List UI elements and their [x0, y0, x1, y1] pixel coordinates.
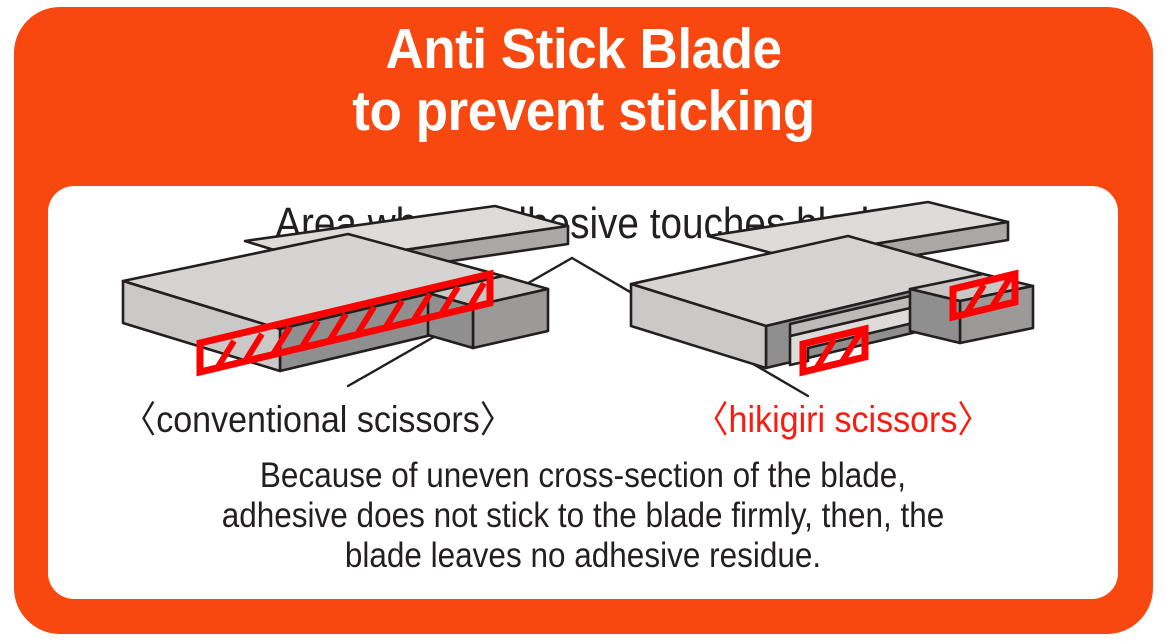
caption-conventional-scissors: 〈conventional scissors〉 — [79, 399, 557, 441]
page-title-line-2: to prevent sticking — [54, 80, 1113, 142]
description-line-3: blade leaves no adhesive residue. — [102, 536, 1065, 576]
caption-hikigiri-scissors: 〈hikigiri scissors〉 — [627, 399, 1059, 441]
page-title-line-1: Anti Stick Blade — [54, 18, 1113, 80]
description-line-2: adhesive does not stick to the blade fir… — [102, 496, 1065, 536]
content-panel: Area where adhesive touches blade — [48, 186, 1118, 599]
diagram-conventional — [123, 206, 568, 371]
description-line-1: Because of uneven cross-section of the b… — [102, 456, 1065, 496]
infographic-root: Anti Stick Blade to prevent sticking Are… — [0, 0, 1165, 642]
panel-description: Because of uneven cross-section of the b… — [102, 456, 1065, 576]
page-title: Anti Stick Blade to prevent sticking — [54, 18, 1113, 142]
